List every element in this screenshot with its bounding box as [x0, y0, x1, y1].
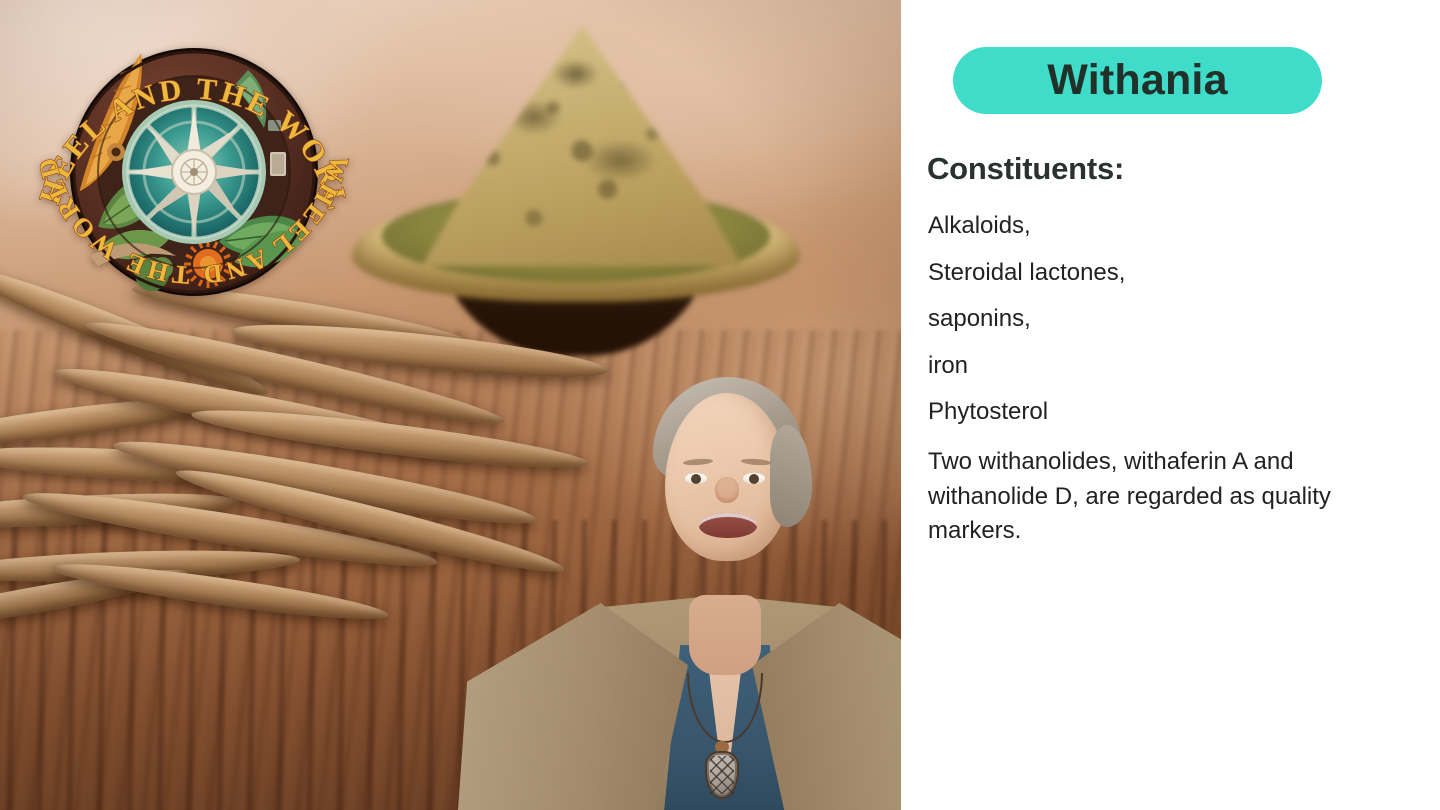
constituents-list: Alkaloids, Steroidal lactones, saponins,… [928, 203, 1398, 549]
presenter-nose [715, 477, 739, 503]
slide-title: Withania [1047, 59, 1227, 102]
list-item: saponins, [928, 296, 1398, 343]
presenter-neck [689, 595, 761, 675]
necklace-pendant [705, 751, 739, 799]
bottom-white-band [990, 798, 1440, 810]
presenter-eye-right [743, 473, 765, 484]
presenter-hair-side [770, 425, 812, 527]
presenter-eye-left [685, 473, 707, 484]
presenter-video-overlay [440, 355, 901, 810]
list-item: Steroidal lactones, [928, 250, 1398, 297]
slide-title-pill: Withania [953, 47, 1322, 114]
constituents-heading: Constituents: [927, 151, 1124, 187]
presenter-mouth [699, 513, 757, 538]
list-item: iron [928, 343, 1398, 390]
content-panel: Withania Constituents: Alkaloids, Steroi… [901, 0, 1440, 810]
list-item: Alkaloids, [928, 203, 1398, 250]
list-item: Phytosterol [928, 389, 1398, 436]
presentation-slide: WHEEL AND THE WORLD WHEEL AND THE WORLD [0, 0, 1440, 810]
ashwagandha-roots-and-powder-photo: WHEEL AND THE WORLD WHEEL AND THE WORLD [0, 0, 901, 810]
quality-markers-paragraph: Two withanolides, withaferin A and witha… [928, 445, 1398, 549]
wheel-and-the-world-logo: WHEEL AND THE WORLD WHEEL AND THE WORLD [28, 12, 358, 330]
